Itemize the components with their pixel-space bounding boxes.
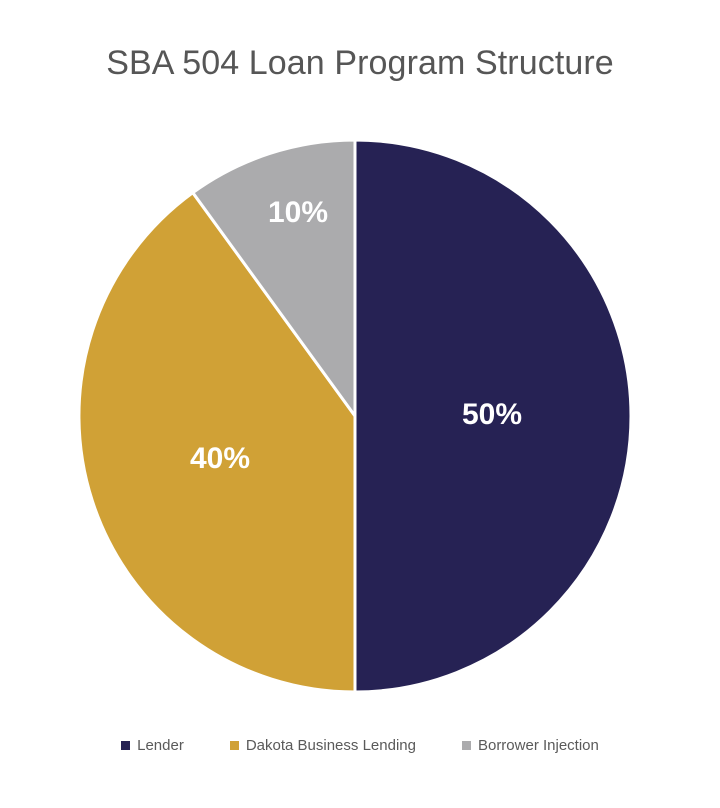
chart-title: SBA 504 Loan Program Structure xyxy=(0,44,720,83)
pie-chart-figure: SBA 504 Loan Program Structure 50% 40% 1… xyxy=(0,0,720,808)
pie-plot-area: 50% 40% 10% xyxy=(77,138,633,694)
legend-label-borrower-injection: Borrower Injection xyxy=(478,738,599,753)
legend-swatch-icon-dakota-business-lending xyxy=(230,741,239,750)
chart-legend: Lender Dakota Business Lending Borrower … xyxy=(0,738,720,753)
pie-label-dakota-business-lending: 40% xyxy=(190,442,250,475)
legend-item-lender[interactable]: Lender xyxy=(121,738,184,753)
pie-svg: 50% 40% 10% xyxy=(77,138,633,694)
legend-item-dakota-business-lending[interactable]: Dakota Business Lending xyxy=(230,738,416,753)
legend-swatch-icon-lender xyxy=(121,741,130,750)
legend-label-lender: Lender xyxy=(137,738,184,753)
pie-label-lender: 50% xyxy=(462,398,522,431)
legend-label-dakota-business-lending: Dakota Business Lending xyxy=(246,738,416,753)
legend-swatch-icon-borrower-injection xyxy=(462,741,471,750)
pie-label-borrower-injection: 10% xyxy=(268,196,328,229)
legend-item-borrower-injection[interactable]: Borrower Injection xyxy=(462,738,599,753)
